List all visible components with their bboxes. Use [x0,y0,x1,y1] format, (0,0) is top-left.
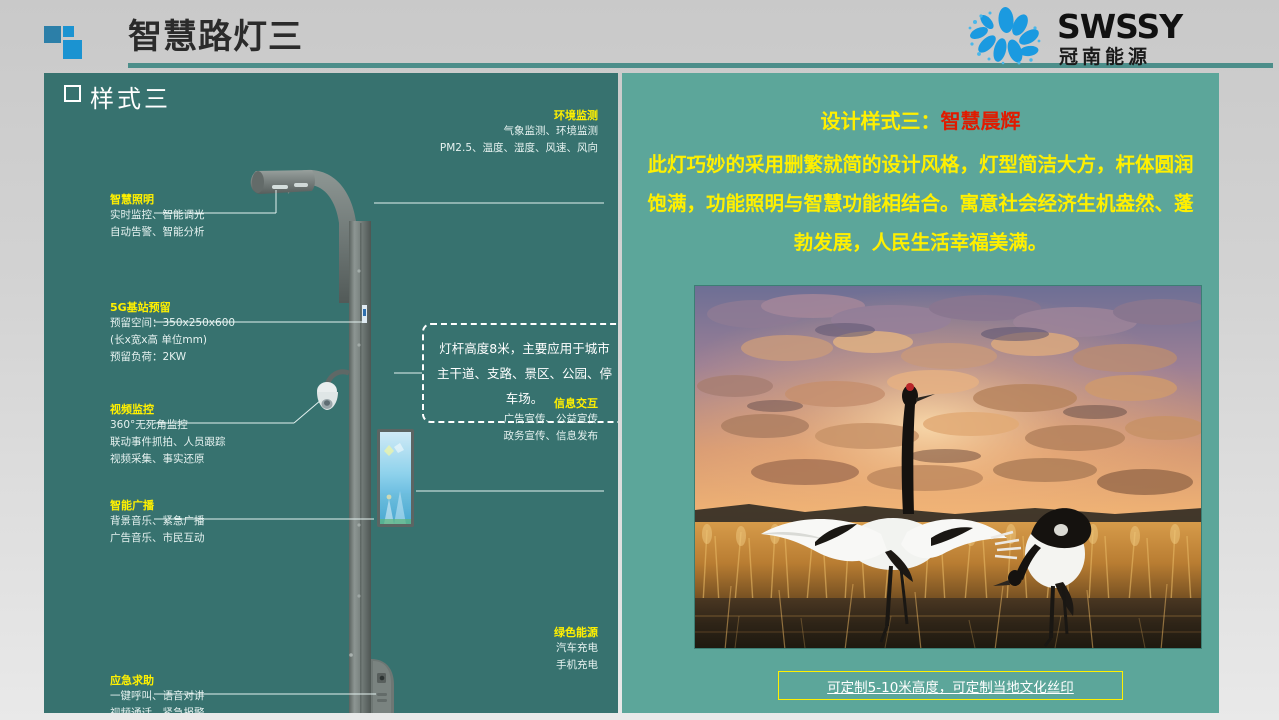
callout-line: 气象监测、环境监测 [298,123,598,140]
left-diagram-panel: 样式三 [44,73,618,713]
callout-line: 广告音乐、市民互动 [110,530,205,547]
callout-title: 5G基站预留 [110,301,235,315]
callout-line: 视频通话、紧急报警 [110,705,205,713]
callout-line: (长x宽x高 单位mm) [110,332,235,349]
square-blue-icon [63,40,82,59]
callout-green-energy: 绿色能源 汽车充电 手机充电 [298,626,598,674]
callout-line: 政务宣传、信息发布 [298,428,598,445]
callout-line: 视频采集、事实还原 [110,451,226,468]
callout-line: 汽车充电 [298,640,598,657]
page-title: 智慧路灯三 [128,17,303,57]
callout-line: 预留空间：350x250x600 [110,315,235,332]
callout-title: 绿色能源 [298,626,598,640]
callout-title: 智慧照明 [110,193,205,207]
callout-line: 自动告警、智能分析 [110,224,205,241]
square-small-icon [63,26,74,37]
company-logo: SWSSY 冠南能源 [959,6,1221,68]
design-style-prefix: 设计样式三： [821,109,941,133]
callout-title: 智能广播 [110,499,205,513]
crane-sunset-photo [694,285,1202,649]
callout-title: 环境监测 [298,109,598,123]
callout-title: 视频监控 [110,403,226,417]
callout-title: 应急求助 [110,674,205,688]
square-dark-icon [44,26,61,43]
callout-line: 实时监控、智能调光 [110,207,205,224]
header-decoration-squares [44,26,88,62]
logo-wordmark: SWSSY [1057,7,1182,46]
callout-information-interaction: 信息交互 广告宣传、公益宣传 政务宣传、信息发布 [298,397,598,445]
callout-emergency-help: 应急求助 一键呼叫、语音对讲 视频通话、紧急报警 [110,674,205,713]
callout-line: 广告宣传、公益宣传 [298,411,598,428]
right-description-panel: 设计样式三：智慧晨辉 此灯巧妙的采用删繁就简的设计风格，灯型简洁大方，杆体圆润饱… [622,73,1219,713]
callout-line: 手机充电 [298,657,598,674]
callout-line: 预留负荷：2KW [110,349,235,366]
page-header: 智慧路灯三 SWSSY [0,0,1279,72]
callout-video-surveillance: 视频监控 360°无死角监控 联动事件抓拍、人员跟踪 视频采集、事实还原 [110,403,226,468]
callout-title: 信息交互 [298,397,598,411]
customization-caption-box: 可定制5-10米高度，可定制当地文化丝印 [778,671,1123,700]
callout-line: 一键呼叫、语音对讲 [110,688,205,705]
design-description-text: 此灯巧妙的采用删繁就简的设计风格，灯型简洁大方，杆体圆润饱满，功能照明与智慧功能… [638,145,1203,262]
design-style-title: 设计样式三：智慧晨辉 [622,108,1219,134]
callout-smart-lighting: 智慧照明 实时监控、智能调光 自动告警、智能分析 [110,193,205,241]
customization-caption-text: 可定制5-10米高度，可定制当地文化丝印 [827,676,1074,696]
flower-petal-logo-icon [959,6,1051,68]
callout-line: 联动事件抓拍、人员跟踪 [110,434,226,451]
logo-subtitle: 冠南能源 [1059,42,1151,69]
callout-smart-broadcast: 智能广播 背景音乐、紧急广播 广告音乐、市民互动 [110,499,205,547]
design-style-accent: 智慧晨辉 [941,109,1021,133]
callout-line: PM2.5、温度、湿度、风速、风向 [298,140,598,157]
callout-line: 360°无死角监控 [110,417,226,434]
callout-line: 背景音乐、紧急广播 [110,513,205,530]
callout-environment-monitoring: 环境监测 气象监测、环境监测 PM2.5、温度、湿度、风速、风向 [298,109,598,157]
callout-5g-base-station: 5G基站预留 预留空间：350x250x600 (长x宽x高 单位mm) 预留负… [110,301,235,366]
